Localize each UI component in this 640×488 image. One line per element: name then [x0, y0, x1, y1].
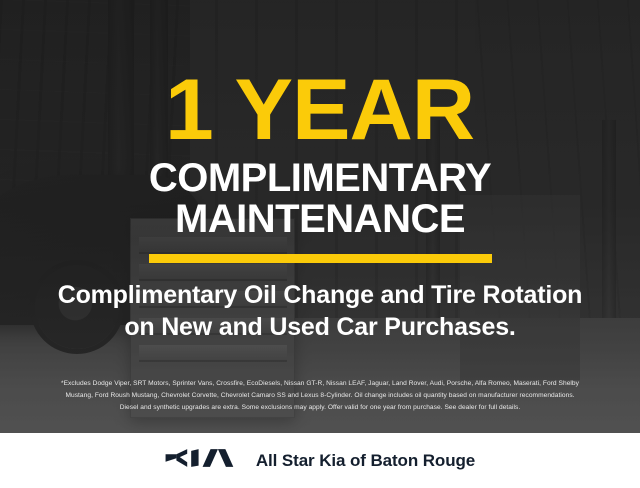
banner-content: 1 YEAR COMPLIMENTARY MAINTENANCE Complim… — [0, 0, 640, 488]
subheadline-line-2: MAINTENANCE — [149, 199, 491, 240]
offer-description-line-1: Complimentary Oil Change and Tire Rotati… — [58, 281, 583, 309]
offer-description: Complimentary Oil Change and Tire Rotati… — [58, 279, 583, 343]
offer-description-line-2: on New and Used Car Purchases. — [58, 311, 583, 343]
promo-banner: 1 YEAR COMPLIMENTARY MAINTENANCE Complim… — [0, 0, 640, 488]
headline-1-year: 1 YEAR — [165, 74, 474, 148]
yellow-divider-rule — [149, 254, 492, 263]
disclaimer-fine-print: *Excludes Dodge Viper, SRT Motors, Sprin… — [0, 378, 640, 414]
subheadline: COMPLIMENTARY MAINTENANCE — [149, 158, 491, 240]
dealer-name: All Star Kia of Baton Rouge — [256, 451, 475, 471]
dealer-footer-bar: All Star Kia of Baton Rouge — [0, 433, 640, 488]
disclaimer-line-3: Diesel and synthetic upgrades are extra.… — [14, 402, 626, 414]
subheadline-line-1: COMPLIMENTARY — [149, 156, 491, 200]
disclaimer-line-1: *Excludes Dodge Viper, SRT Motors, Sprin… — [14, 378, 626, 390]
kia-logo — [165, 447, 239, 474]
disclaimer-line-2: Mustang, Ford Roush Mustang, Chevrolet C… — [14, 390, 626, 402]
